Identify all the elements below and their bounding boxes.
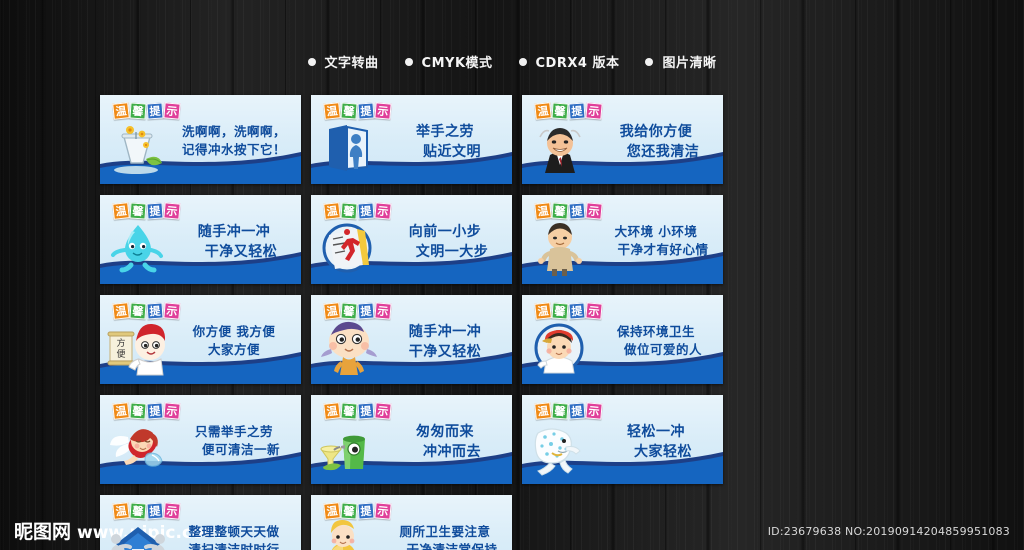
card-slogan: 大环境 小环境干净才有好心情: [594, 223, 718, 259]
bullet-dot-icon: [308, 58, 316, 66]
card-slogan: 匆匆而来冲冲而去: [383, 423, 507, 463]
badge-char-1: 馨: [340, 102, 357, 119]
slogan-line-2: 干净又轻松: [172, 243, 296, 263]
card-slogan: 洗啊啊，洗啊啊，记得冲水按下它！: [172, 123, 296, 159]
badge-char-0: 温: [534, 202, 552, 220]
brand-name-cn: 昵图网: [14, 523, 71, 542]
badge-char-1: 馨: [129, 202, 146, 219]
bullet-dot-icon: [645, 58, 653, 66]
card-slogan: 轻松一冲大家轻松: [594, 423, 718, 463]
slogan-line-1: 保持环境卫生: [594, 323, 718, 341]
banner-card-grid: 温馨提示洗啊啊，洗啊啊，记得冲水按下它！温馨提示举手之劳贴近文明温馨提示我给你方…: [100, 95, 926, 550]
card-slogan: 举手之劳贴近文明: [383, 123, 507, 163]
badge-char-1: 馨: [129, 502, 146, 519]
card-slogan: 厕所卫生要注意干净清洁常保持: [383, 523, 507, 550]
badge-char-0: 温: [534, 302, 552, 320]
warm-tip-badge: 温馨提示: [113, 203, 180, 219]
smiling-man-icon: [528, 119, 592, 177]
toilet-with-flowers-icon: [106, 119, 170, 177]
warm-tip-badge: 温馨提示: [535, 403, 602, 419]
badge-char-2: 提: [568, 302, 585, 319]
badge-char-3: 示: [374, 102, 391, 119]
badge-char-2: 提: [146, 302, 163, 319]
slogan-line-2: 大家轻松: [594, 443, 718, 463]
badge-char-0: 温: [323, 102, 341, 120]
slogan-line-1: 只需举手之劳: [172, 423, 296, 441]
slogan-line-2: 清扫清洁时时行: [172, 541, 296, 550]
badge-char-3: 示: [374, 402, 391, 419]
flying-fairy-girl-icon: [106, 419, 170, 477]
banner-card[interactable]: 温馨提示只需举手之劳便可清洁一新: [100, 395, 301, 484]
slogan-line-1: 轻松一冲: [594, 423, 718, 443]
card-slogan: 随手冲一冲干净又轻松: [383, 323, 507, 363]
slogan-line-2: 大家方便: [172, 341, 296, 359]
listening-man-icon: [528, 219, 592, 277]
slogan-line-1: 举手之劳: [383, 123, 507, 143]
badge-char-2: 提: [357, 502, 374, 519]
red-mascot-scroll-icon: 方便: [106, 319, 170, 377]
badge-char-2: 提: [146, 502, 163, 519]
badge-char-3: 示: [163, 102, 180, 119]
badge-char-3: 示: [585, 202, 602, 219]
card-slogan: 随手冲一冲干净又轻松: [172, 223, 296, 263]
spec-item: CMYK模式: [405, 52, 493, 71]
banner-card[interactable]: 温馨提示方便你方便 我方便大家方便: [100, 295, 301, 384]
spec-item: 文字转曲: [308, 52, 379, 71]
badge-char-0: 温: [323, 302, 341, 320]
asset-id-text: ID:23679638 NO:20190914204859951083: [768, 525, 1010, 538]
running-man-sign-icon: [317, 219, 381, 277]
bullet-dot-icon: [519, 58, 527, 66]
badge-char-0: 温: [534, 102, 552, 120]
running-tissue-icon: [528, 419, 592, 477]
badge-char-0: 温: [112, 202, 130, 220]
warm-tip-badge: 温馨提示: [535, 303, 602, 319]
warm-tip-badge: 温馨提示: [113, 103, 180, 119]
badge-char-2: 提: [146, 102, 163, 119]
girl-red-cap-icon: [528, 319, 592, 377]
yellow-boy-plant-icon: [317, 519, 381, 550]
slogan-line-1: 我给你方便: [594, 123, 718, 143]
slogan-line-2: 干净清洁常保持: [383, 541, 507, 550]
banner-card[interactable]: 温馨提示随手冲一冲干净又轻松: [311, 295, 512, 384]
warm-tip-badge: 温馨提示: [535, 103, 602, 119]
spec-label: 文字转曲: [325, 52, 379, 71]
spec-label: CMYK模式: [422, 52, 493, 71]
badge-char-3: 示: [374, 302, 391, 319]
badge-char-1: 馨: [129, 302, 146, 319]
card-slogan: 向前一小步文明一大步: [383, 223, 507, 263]
badge-char-0: 温: [112, 302, 130, 320]
badge-char-1: 馨: [551, 102, 568, 119]
banner-card[interactable]: 温馨提示轻松一冲大家轻松: [522, 395, 723, 484]
banner-card[interactable]: 温馨提示清洁整理整顿天天做清扫清洁时时行: [100, 495, 301, 550]
spec-label: CDRX4 版本: [536, 52, 620, 71]
badge-char-0: 温: [323, 402, 341, 420]
badge-char-2: 提: [357, 102, 374, 119]
badge-char-2: 提: [146, 402, 163, 419]
warm-tip-badge: 温馨提示: [324, 303, 391, 319]
spec-item: CDRX4 版本: [519, 52, 620, 71]
badge-char-1: 馨: [551, 302, 568, 319]
badge-char-2: 提: [568, 402, 585, 419]
poster-backdrop: 文字转曲 CMYK模式 CDRX4 版本 图片清晰 温馨提示洗啊啊，洗啊啊，记得…: [0, 0, 1024, 550]
badge-char-2: 提: [146, 202, 163, 219]
slogan-line-1: 匆匆而来: [383, 423, 507, 443]
warm-tip-badge: 温馨提示: [324, 403, 391, 419]
badge-char-1: 馨: [340, 302, 357, 319]
badge-char-2: 提: [357, 302, 374, 319]
slogan-line-1: 你方便 我方便: [172, 323, 296, 341]
badge-char-0: 温: [323, 202, 341, 220]
banner-card[interactable]: 温馨提示保持环境卫生做位可爱的人: [522, 295, 723, 384]
badge-char-3: 示: [374, 202, 391, 219]
banner-card[interactable]: 温馨提示举手之劳贴近文明: [311, 95, 512, 184]
green-trashcan-icon: [317, 419, 381, 477]
svg-text:便: 便: [116, 348, 125, 360]
banner-card[interactable]: 温馨提示匆匆而来冲冲而去: [311, 395, 512, 484]
water-droplet-mascot-icon: [106, 219, 170, 277]
badge-char-3: 示: [163, 202, 180, 219]
spec-item: 图片清晰: [645, 52, 716, 71]
spec-label: 图片清晰: [662, 52, 716, 71]
bullet-dot-icon: [405, 58, 413, 66]
badge-char-1: 馨: [340, 402, 357, 419]
banner-card[interactable]: 温馨提示大环境 小环境干净才有好心情: [522, 195, 723, 284]
warm-tip-badge: 温馨提示: [535, 203, 602, 219]
slogan-line-2: 冲冲而去: [383, 443, 507, 463]
banner-card[interactable]: 温馨提示洗啊啊，洗啊啊，记得冲水按下它！: [100, 95, 301, 184]
badge-char-1: 馨: [340, 202, 357, 219]
badge-char-2: 提: [357, 402, 374, 419]
badge-char-1: 馨: [551, 202, 568, 219]
badge-char-0: 温: [112, 402, 130, 420]
badge-char-3: 示: [585, 102, 602, 119]
card-slogan: 你方便 我方便大家方便: [172, 323, 296, 359]
slogan-line-2: 您还我清洁: [594, 143, 718, 163]
warm-tip-badge: 温馨提示: [113, 503, 180, 519]
slogan-line-1: 大环境 小环境: [594, 223, 718, 241]
badge-char-2: 提: [568, 202, 585, 219]
slogan-line-2: 记得冲水按下它！: [172, 141, 296, 159]
slogan-line-2: 做位可爱的人: [594, 341, 718, 359]
boy-head-mascot-icon: [317, 319, 381, 377]
banner-card[interactable]: 温馨提示随手冲一冲干净又轻松: [100, 195, 301, 284]
slogan-line-1: 向前一小步: [383, 223, 507, 243]
spec-bar: 文字转曲 CMYK模式 CDRX4 版本 图片清晰: [0, 52, 1024, 71]
banner-card[interactable]: 温馨提示我给你方便您还我清洁: [522, 95, 723, 184]
badge-char-0: 温: [323, 502, 341, 520]
banner-card[interactable]: 温馨提示厕所卫生要注意干净清洁常保持: [311, 495, 512, 550]
warm-tip-badge: 温馨提示: [324, 503, 391, 519]
badge-char-0: 温: [112, 102, 130, 120]
slogan-line-1: 厕所卫生要注意: [383, 523, 507, 541]
card-slogan: 整理整顿天天做清扫清洁时时行: [172, 523, 296, 550]
card-slogan: 只需举手之劳便可清洁一新: [172, 423, 296, 459]
badge-char-0: 温: [534, 402, 552, 420]
badge-char-3: 示: [163, 302, 180, 319]
badge-char-0: 温: [112, 502, 130, 520]
badge-char-1: 馨: [551, 402, 568, 419]
banner-card[interactable]: 温馨提示向前一小步文明一大步: [311, 195, 512, 284]
slogan-line-1: 随手冲一冲: [172, 223, 296, 243]
badge-char-3: 示: [163, 502, 180, 519]
badge-char-1: 馨: [340, 502, 357, 519]
svg-text:方: 方: [116, 337, 125, 349]
badge-char-2: 提: [357, 202, 374, 219]
two-men-blue-house-icon: 清洁: [106, 519, 170, 550]
warm-tip-badge: 温馨提示: [113, 403, 180, 419]
badge-char-1: 馨: [129, 402, 146, 419]
slogan-line-2: 贴近文明: [383, 143, 507, 163]
card-slogan: 保持环境卫生做位可爱的人: [594, 323, 718, 359]
slogan-line-2: 便可清洁一新: [172, 441, 296, 459]
slogan-line-1: 整理整顿天天做: [172, 523, 296, 541]
badge-char-3: 示: [585, 302, 602, 319]
warm-tip-badge: 温馨提示: [113, 303, 180, 319]
slogan-line-2: 干净才有好心情: [594, 241, 718, 259]
badge-char-1: 馨: [129, 102, 146, 119]
badge-char-3: 示: [585, 402, 602, 419]
slogan-line-1: 随手冲一冲: [383, 323, 507, 343]
card-slogan: 我给你方便您还我清洁: [594, 123, 718, 163]
badge-char-2: 提: [568, 102, 585, 119]
warm-tip-badge: 温馨提示: [324, 103, 391, 119]
badge-char-3: 示: [163, 402, 180, 419]
warm-tip-badge: 温馨提示: [324, 203, 391, 219]
slogan-line-2: 干净又轻松: [383, 343, 507, 363]
door-person-icon: [317, 119, 381, 177]
badge-char-3: 示: [374, 502, 391, 519]
slogan-line-2: 文明一大步: [383, 243, 507, 263]
slogan-line-1: 洗啊啊，洗啊啊，: [172, 123, 296, 141]
